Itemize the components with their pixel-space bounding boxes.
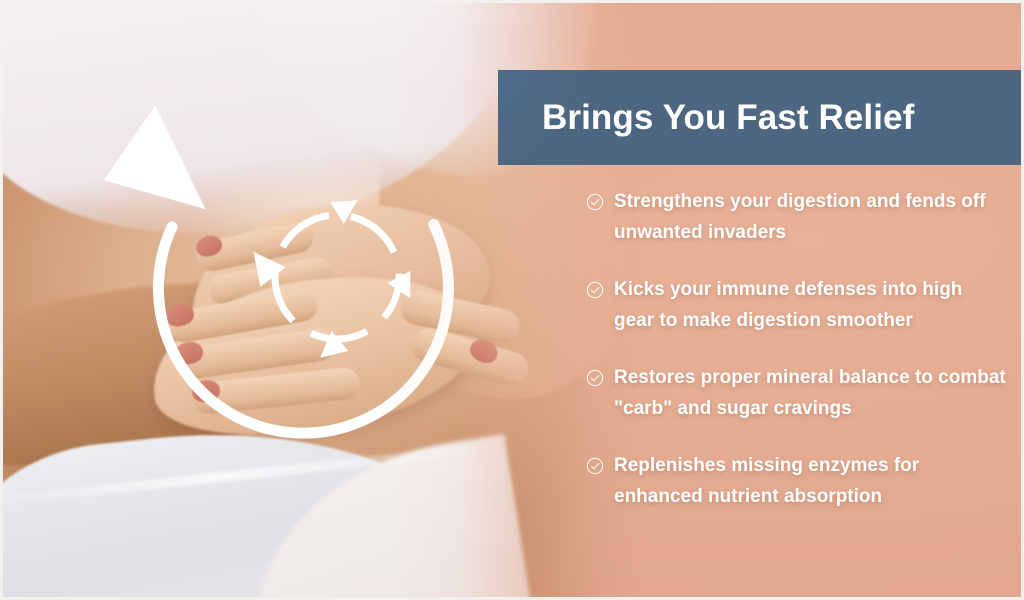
list-item: Kicks your immune defenses into high gea… [586,274,1006,336]
list-item: Strengthens your digestion and fends off… [586,186,1006,248]
benefits-list: Strengthens your digestion and fends off… [586,186,1006,512]
promo-banner-image: Brings You Fast Relief Strengthens your … [0,0,1024,600]
check-circle-icon [586,193,604,211]
page-title: Brings You Fast Relief [542,98,914,138]
list-item-label: Strengthens your digestion and fends off… [614,186,1006,248]
check-circle-icon [586,369,604,387]
title-banner: Brings You Fast Relief [498,70,1021,165]
list-item-label: Restores proper mineral balance to comba… [614,362,1006,424]
list-item: Restores proper mineral balance to comba… [586,362,1006,424]
list-item: Replenishes missing enzymes for enhanced… [586,450,1006,512]
check-circle-icon [586,457,604,475]
list-item-label: Kicks your immune defenses into high gea… [614,274,1006,336]
list-item-label: Replenishes missing enzymes for enhanced… [614,450,1006,512]
check-circle-icon [586,281,604,299]
